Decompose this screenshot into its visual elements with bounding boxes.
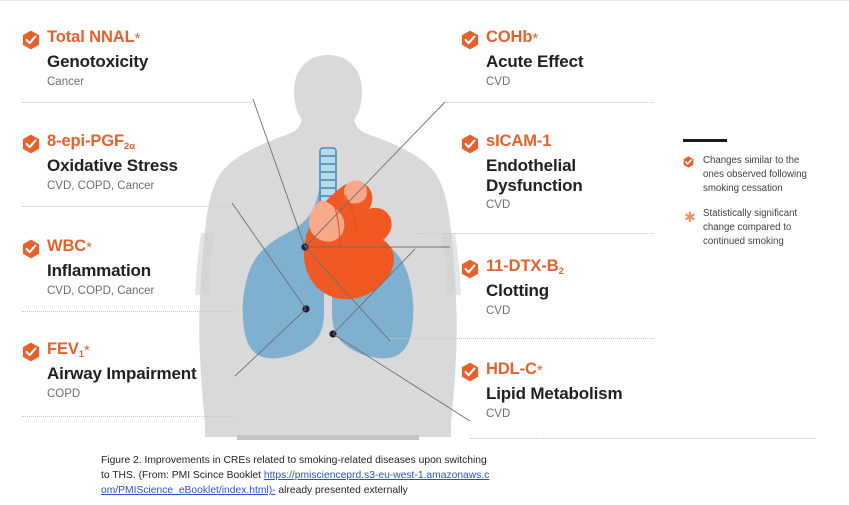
biomarker-disease: CVD (486, 199, 631, 213)
hexagon-check-icon (461, 259, 479, 279)
card-header: sICAM-1 (461, 133, 631, 154)
divider-right-1 (446, 102, 654, 103)
legend-item-similar-changes: Changes similar to the ones observed fol… (683, 154, 811, 195)
asterisk-icon: ✱ (683, 207, 697, 224)
divider-left-2 (22, 206, 230, 207)
card-header: Total NNAL* (22, 29, 252, 50)
biomarker-code: 8-epi-PGF2α (47, 133, 135, 150)
divider-left-4 (22, 416, 234, 417)
biomarker-disease: CVD, COPD, Cancer (47, 285, 252, 299)
hexagon-check-icon (22, 30, 40, 50)
biomarker-card-11-dtx-b2[interactable]: 11-DTX-B2 Clotting CVD (461, 258, 661, 319)
card-header: 8-epi-PGF2α (22, 133, 252, 154)
hexagon-check-icon (683, 154, 697, 168)
biomarker-effect: Acute Effect (486, 52, 661, 72)
divider-right-2 (416, 233, 654, 234)
caption-tail: already presented externally (276, 485, 408, 496)
hexagon-check-icon (22, 342, 40, 362)
biomarker-card-total-nnal[interactable]: Total NNAL* Genotoxicity Cancer (22, 29, 252, 90)
biomarker-code: FEV1* (47, 341, 90, 358)
biomarker-card-cohb[interactable]: COHb* Acute Effect CVD (461, 29, 661, 90)
anchor-dot-lower (329, 330, 336, 337)
card-header: COHb* (461, 29, 661, 50)
biomarker-card-sicam-1[interactable]: sICAM-1 Endothelial Dysfunction CVD (461, 133, 631, 213)
legend: Changes similar to the ones observed fol… (683, 139, 811, 261)
biomarker-effect: Airway Impairment (47, 364, 252, 384)
card-header: WBC* (22, 238, 252, 259)
pedestal-bar (237, 435, 419, 440)
biomarker-effect: Inflammation (47, 261, 252, 281)
anchor-dot-lung (302, 305, 309, 312)
hexagon-check-icon (22, 239, 40, 259)
figure-caption: Figure 2. Improvements in CREs related t… (101, 453, 493, 499)
legend-label: Changes similar to the ones observed fol… (703, 154, 811, 195)
divider-right-3 (390, 338, 654, 339)
biomarker-disease: CVD (486, 76, 661, 90)
card-header: HDL-C* (461, 361, 661, 382)
biomarker-code: HDL-C* (486, 361, 543, 378)
biomarker-effect: Clotting (486, 281, 661, 301)
figure-canvas: Total NNAL* Genotoxicity Cancer 8-epi-PG… (0, 0, 849, 505)
hexagon-check-icon (461, 30, 479, 50)
biomarker-code: Total NNAL* (47, 29, 140, 46)
legend-item-statistical-significance: ✱ Statistically significant change compa… (683, 207, 811, 248)
legend-label: Statistically significant change compare… (703, 207, 811, 248)
hexagon-check-icon (461, 362, 479, 382)
card-header: FEV1* (22, 341, 252, 362)
biomarker-disease: CVD (486, 305, 661, 319)
biomarker-disease: CVD (486, 408, 661, 422)
divider-left-1 (22, 102, 252, 103)
biomarker-disease: COPD (47, 388, 252, 402)
divider-left-3 (22, 311, 234, 312)
biomarker-code: COHb* (486, 29, 538, 46)
biomarker-card-fev1[interactable]: FEV1* Airway Impairment COPD (22, 341, 252, 402)
hexagon-check-icon (461, 134, 479, 154)
biomarker-disease: Cancer (47, 76, 252, 90)
biomarker-effect: Genotoxicity (47, 52, 252, 72)
biomarker-code: sICAM-1 (486, 133, 551, 150)
biomarker-effect: Oxidative Stress (47, 156, 252, 176)
hexagon-check-icon (22, 134, 40, 154)
biomarker-code: WBC* (47, 238, 92, 255)
biomarker-disease: CVD, COPD, Cancer (47, 180, 252, 194)
divider-baseline (536, 438, 816, 439)
biomarker-card-hdl-c[interactable]: HDL-C* Lipid Metabolism CVD (461, 361, 661, 422)
biomarker-card-wbc[interactable]: WBC* Inflammation CVD, COPD, Cancer (22, 238, 252, 299)
legend-top-rule (683, 139, 727, 142)
biomarker-effect: Lipid Metabolism (486, 384, 661, 404)
card-header: 11-DTX-B2 (461, 258, 661, 279)
biomarker-card-8-epi-pgf2a[interactable]: 8-epi-PGF2α Oxidative Stress CVD, COPD, … (22, 133, 252, 194)
anchor-dot-heart (301, 243, 308, 250)
biomarker-code: 11-DTX-B2 (486, 258, 564, 275)
biomarker-effect: Endothelial Dysfunction (486, 156, 631, 195)
